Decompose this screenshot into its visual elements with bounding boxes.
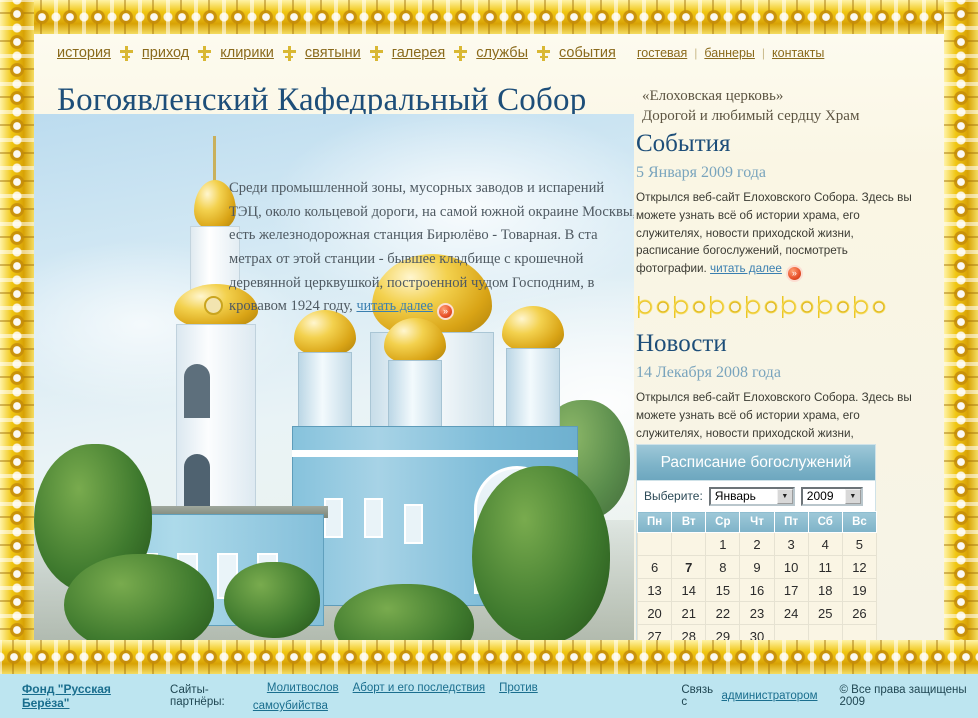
side-drum xyxy=(298,352,352,428)
calendar-day-cell[interactable]: 12 xyxy=(842,556,876,579)
tree-decoration xyxy=(64,554,214,640)
footer-partner-link-0[interactable]: Молитвослов xyxy=(267,682,339,694)
events-heading: События xyxy=(636,130,918,158)
footer-fund-link[interactable]: Фонд "Русская Берёза" xyxy=(22,682,146,710)
weekday-header-3: Чт xyxy=(740,512,774,533)
util-item-2[interactable]: контакты xyxy=(772,46,824,60)
calendar-day-cell[interactable]: 30 xyxy=(740,625,774,641)
calendar-weekday-header: ПнВтСрЧтПтСбВс xyxy=(638,512,877,533)
tower-clock xyxy=(204,296,223,315)
nav-item-6[interactable]: события xyxy=(559,45,616,61)
calendar-week-row: 6789101112 xyxy=(638,556,877,579)
footer-contact-prefix: Связь с xyxy=(681,684,717,708)
calendar-day-cell[interactable]: 6 xyxy=(638,556,672,579)
calendar-day-cell[interactable]: 16 xyxy=(740,579,774,602)
double-chevron-right-icon[interactable]: » xyxy=(786,265,803,282)
calendar-day-cell[interactable]: 18 xyxy=(808,579,842,602)
orthodox-cross-icon xyxy=(281,45,298,62)
calendar-day-cell[interactable]: 15 xyxy=(706,579,740,602)
tree-decoration xyxy=(472,466,610,640)
orthodox-cross-icon xyxy=(196,45,213,62)
events-section: События 5 Января 2009 года Открылся веб-… xyxy=(636,130,918,282)
calendar-grid: ПнВтСрЧтПтСбВс 1234567891011121314151617… xyxy=(637,511,877,640)
calendar-day-cell[interactable]: 1 xyxy=(706,533,740,556)
nav-item-0[interactable]: история xyxy=(57,45,111,61)
weekday-header-6: Вс xyxy=(842,512,876,533)
weekday-header-1: Вт xyxy=(672,512,706,533)
ornament-border-right xyxy=(944,0,978,674)
calendar-week-row: 27282930 xyxy=(638,625,877,641)
util-item-0[interactable]: гостевая xyxy=(637,46,687,60)
ornamental-divider xyxy=(636,296,888,318)
calendar-day-cell[interactable]: 11 xyxy=(808,556,842,579)
month-select-value: Январь xyxy=(711,489,760,503)
events-date: 5 Января 2009 года xyxy=(636,164,918,182)
nav-item-5[interactable]: службы xyxy=(476,45,528,61)
intro-paragraph: Среди промышленной зоны, мусорных заводо… xyxy=(229,177,634,320)
footer-admin-link[interactable]: администратором xyxy=(722,690,818,702)
news-date: 14 Лекабря 2008 года xyxy=(636,364,918,382)
orthodox-cross-icon xyxy=(118,45,135,62)
window xyxy=(324,498,343,538)
tagline-line-1: «Елоховская церковь» xyxy=(642,86,859,106)
cathedral-hero-image: Среди промышленной зоны, мусорных заводо… xyxy=(34,114,634,640)
calendar-empty-cell xyxy=(638,533,672,556)
nav-item-2[interactable]: клирики xyxy=(220,45,274,61)
util-item-1[interactable]: баннеры xyxy=(704,46,755,60)
footer-partner-links: МолитвословАборт и его последствияПротив… xyxy=(253,678,575,714)
calendar-day-cell[interactable]: 19 xyxy=(842,579,876,602)
calendar-day-cell[interactable]: 26 xyxy=(842,602,876,625)
side-drum xyxy=(506,348,560,428)
calendar-day-cell[interactable]: 9 xyxy=(740,556,774,579)
calendar-day-cell[interactable]: 24 xyxy=(774,602,808,625)
weekday-header-0: Пн xyxy=(638,512,672,533)
calendar-day-cell[interactable]: 22 xyxy=(706,602,740,625)
calendar-day-cell[interactable]: 25 xyxy=(808,602,842,625)
site-tagline: «Елоховская церковь» Дорогой и любимый с… xyxy=(642,86,859,127)
calendar-day-cell[interactable]: 4 xyxy=(808,533,842,556)
calendar-select-label: Выберите: xyxy=(644,489,703,503)
intro-read-more-link[interactable]: читать далее xyxy=(356,298,433,314)
window xyxy=(404,504,423,544)
side-drum xyxy=(388,360,442,430)
util-divider: | xyxy=(762,46,765,60)
calendar-week-row: 20212223242526 xyxy=(638,602,877,625)
calendar-empty-cell xyxy=(808,625,842,641)
calendar-day-cell[interactable]: 13 xyxy=(638,579,672,602)
calendar-day-cell[interactable]: 21 xyxy=(672,602,706,625)
calendar-day-cell[interactable]: 10 xyxy=(774,556,808,579)
calendar-day-cell[interactable]: 29 xyxy=(706,625,740,641)
nav-item-4[interactable]: галерея xyxy=(392,45,446,61)
events-body: Открылся веб-сайт Елоховского Собора. Зд… xyxy=(636,189,918,282)
ornament-border-bottom xyxy=(0,640,978,674)
weekday-header-2: Ср xyxy=(706,512,740,533)
tower-arch-window xyxy=(184,364,210,418)
tagline-line-2: Дорогой и любимый сердцу Храм xyxy=(642,106,859,126)
news-heading: Новости xyxy=(636,330,918,358)
weekday-header-5: Сб xyxy=(808,512,842,533)
intro-body: Среди промышленной зоны, мусорных заводо… xyxy=(229,180,634,314)
content-canvas: историяприходклирикисвятынигалереяслужбы… xyxy=(34,34,944,640)
calendar-empty-cell xyxy=(774,625,808,641)
year-select-value: 2009 xyxy=(803,489,838,503)
calendar-day-cell[interactable]: 20 xyxy=(638,602,672,625)
calendar-day-cell[interactable]: 27 xyxy=(638,625,672,641)
window xyxy=(364,498,383,538)
page-root: историяприходклирикисвятынигалереяслужбы… xyxy=(0,0,978,718)
orthodox-cross-icon xyxy=(368,45,385,62)
ornament-border-left xyxy=(0,0,34,674)
calendar-body: 1234567891011121314151617181920212223242… xyxy=(638,533,877,641)
services-schedule-calendar: Расписание богослужений Выберите: Январь… xyxy=(636,444,876,640)
year-select[interactable]: 2009 ▼ xyxy=(801,487,863,506)
footer-partner-link-1[interactable]: Аборт и его последствия xyxy=(353,682,486,694)
calendar-empty-cell xyxy=(842,625,876,641)
main-menu: историяприходклирикисвятынигалереяслужбы… xyxy=(57,45,616,62)
calendar-day-cell[interactable]: 3 xyxy=(774,533,808,556)
calendar-day-cell[interactable]: 14 xyxy=(672,579,706,602)
tower-arch-window xyxy=(184,454,210,512)
cornice xyxy=(292,450,578,457)
ornament-border-top xyxy=(0,0,978,34)
page-footer: Фонд "Русская Берёза" Сайты-партнёры: Мо… xyxy=(0,674,978,718)
calendar-day-cell[interactable]: 8 xyxy=(706,556,740,579)
chevron-down-icon[interactable]: ▼ xyxy=(845,489,861,504)
tree-decoration xyxy=(224,562,320,638)
weekday-header-4: Пт xyxy=(774,512,808,533)
calendar-week-row: 12345 xyxy=(638,533,877,556)
top-navigation-bar: историяприходклирикисвятынигалереяслужбы… xyxy=(34,34,944,72)
footer-copyright: © Все права защищены 2009 xyxy=(840,684,978,708)
orthodox-cross-icon xyxy=(535,45,552,62)
double-chevron-right-icon[interactable]: » xyxy=(437,303,454,320)
calendar-empty-cell xyxy=(672,533,706,556)
orthodox-cross-icon xyxy=(452,45,469,62)
calendar-day-cell[interactable]: 17 xyxy=(774,579,808,602)
utility-menu: гостевая|баннеры|контакты xyxy=(637,34,824,72)
events-read-more-link[interactable]: читать далее xyxy=(710,262,782,275)
calendar-day-cell[interactable]: 28 xyxy=(672,625,706,641)
nav-item-1[interactable]: приход xyxy=(142,45,189,61)
calendar-day-cell[interactable]: 2 xyxy=(740,533,774,556)
footer-partners-label: Сайты-партнёры: xyxy=(170,684,253,708)
calendar-week-row: 13141516171819 xyxy=(638,579,877,602)
calendar-day-cell[interactable]: 7 xyxy=(672,556,706,579)
calendar-day-cell[interactable]: 23 xyxy=(740,602,774,625)
chevron-down-icon[interactable]: ▼ xyxy=(777,489,793,504)
nav-item-3[interactable]: святыни xyxy=(305,45,361,61)
calendar-title: Расписание богослужений xyxy=(637,445,875,481)
month-select[interactable]: Январь ▼ xyxy=(709,487,795,506)
calendar-day-cell[interactable]: 5 xyxy=(842,533,876,556)
util-divider: | xyxy=(694,46,697,60)
calendar-controls: Выберите: Январь ▼ 2009 ▼ xyxy=(637,481,875,511)
